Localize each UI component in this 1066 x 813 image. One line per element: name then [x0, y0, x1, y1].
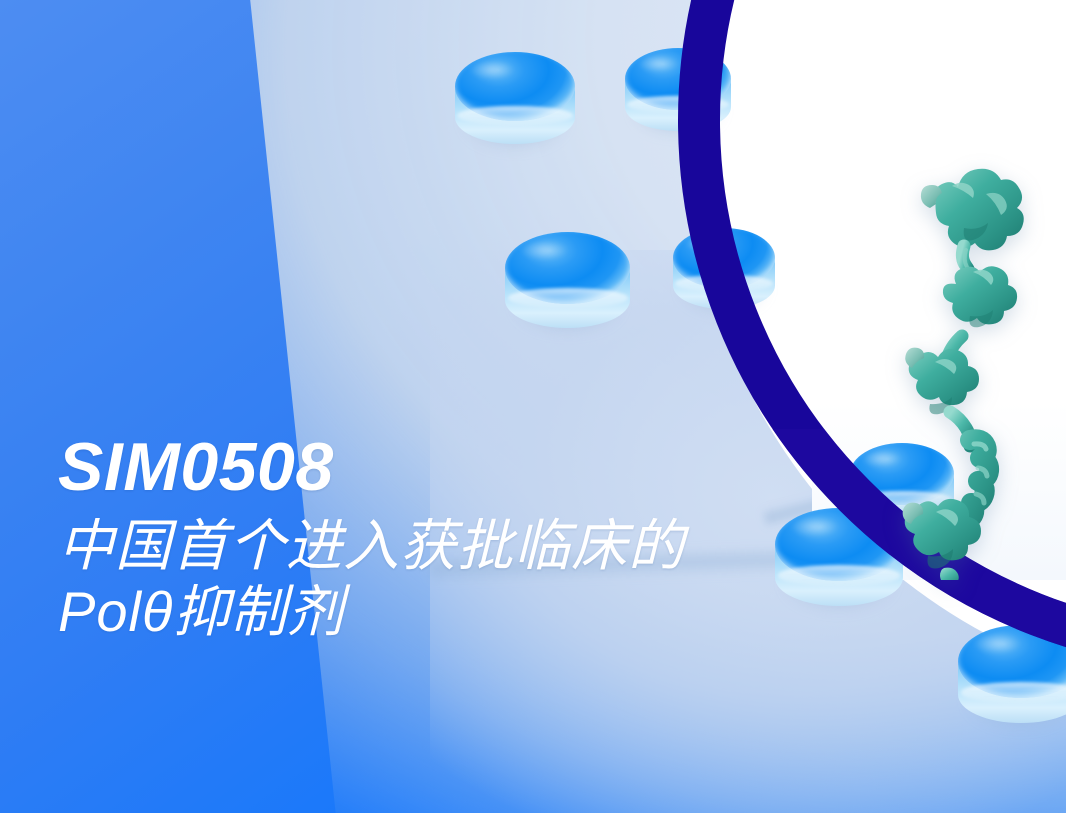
page-title: SIM0508 — [58, 432, 858, 503]
pill-rim — [457, 106, 572, 125]
polymerase-theta-protein-structure — [878, 150, 1066, 580]
subtitle-line-1: 中国首个进入获批临床的 — [58, 513, 858, 579]
pill-rim — [961, 682, 1066, 702]
poster-subtitle: 中国首个进入获批临床的 Polθ抑制剂 — [58, 513, 858, 645]
protein-domain-upper — [921, 169, 1024, 251]
pill-tablet-1 — [455, 52, 575, 148]
pill-tablet-3 — [505, 232, 630, 332]
pill-gloss-highlight — [518, 239, 583, 267]
protein-domain-second — [943, 266, 1017, 327]
subtitle-line-2: Polθ抑制剂 — [58, 579, 858, 645]
pill-rim — [508, 288, 628, 308]
protein-domain-third — [905, 348, 979, 415]
poster-text-block: SIM0508 中国首个进入获批临床的 Polθ抑制剂 — [58, 432, 858, 645]
pill-gloss-highlight — [467, 59, 529, 86]
poster-canvas: SIM0508 中国首个进入获批临床的 Polθ抑制剂 — [0, 0, 1066, 813]
pill-gloss-highlight — [971, 632, 1037, 661]
